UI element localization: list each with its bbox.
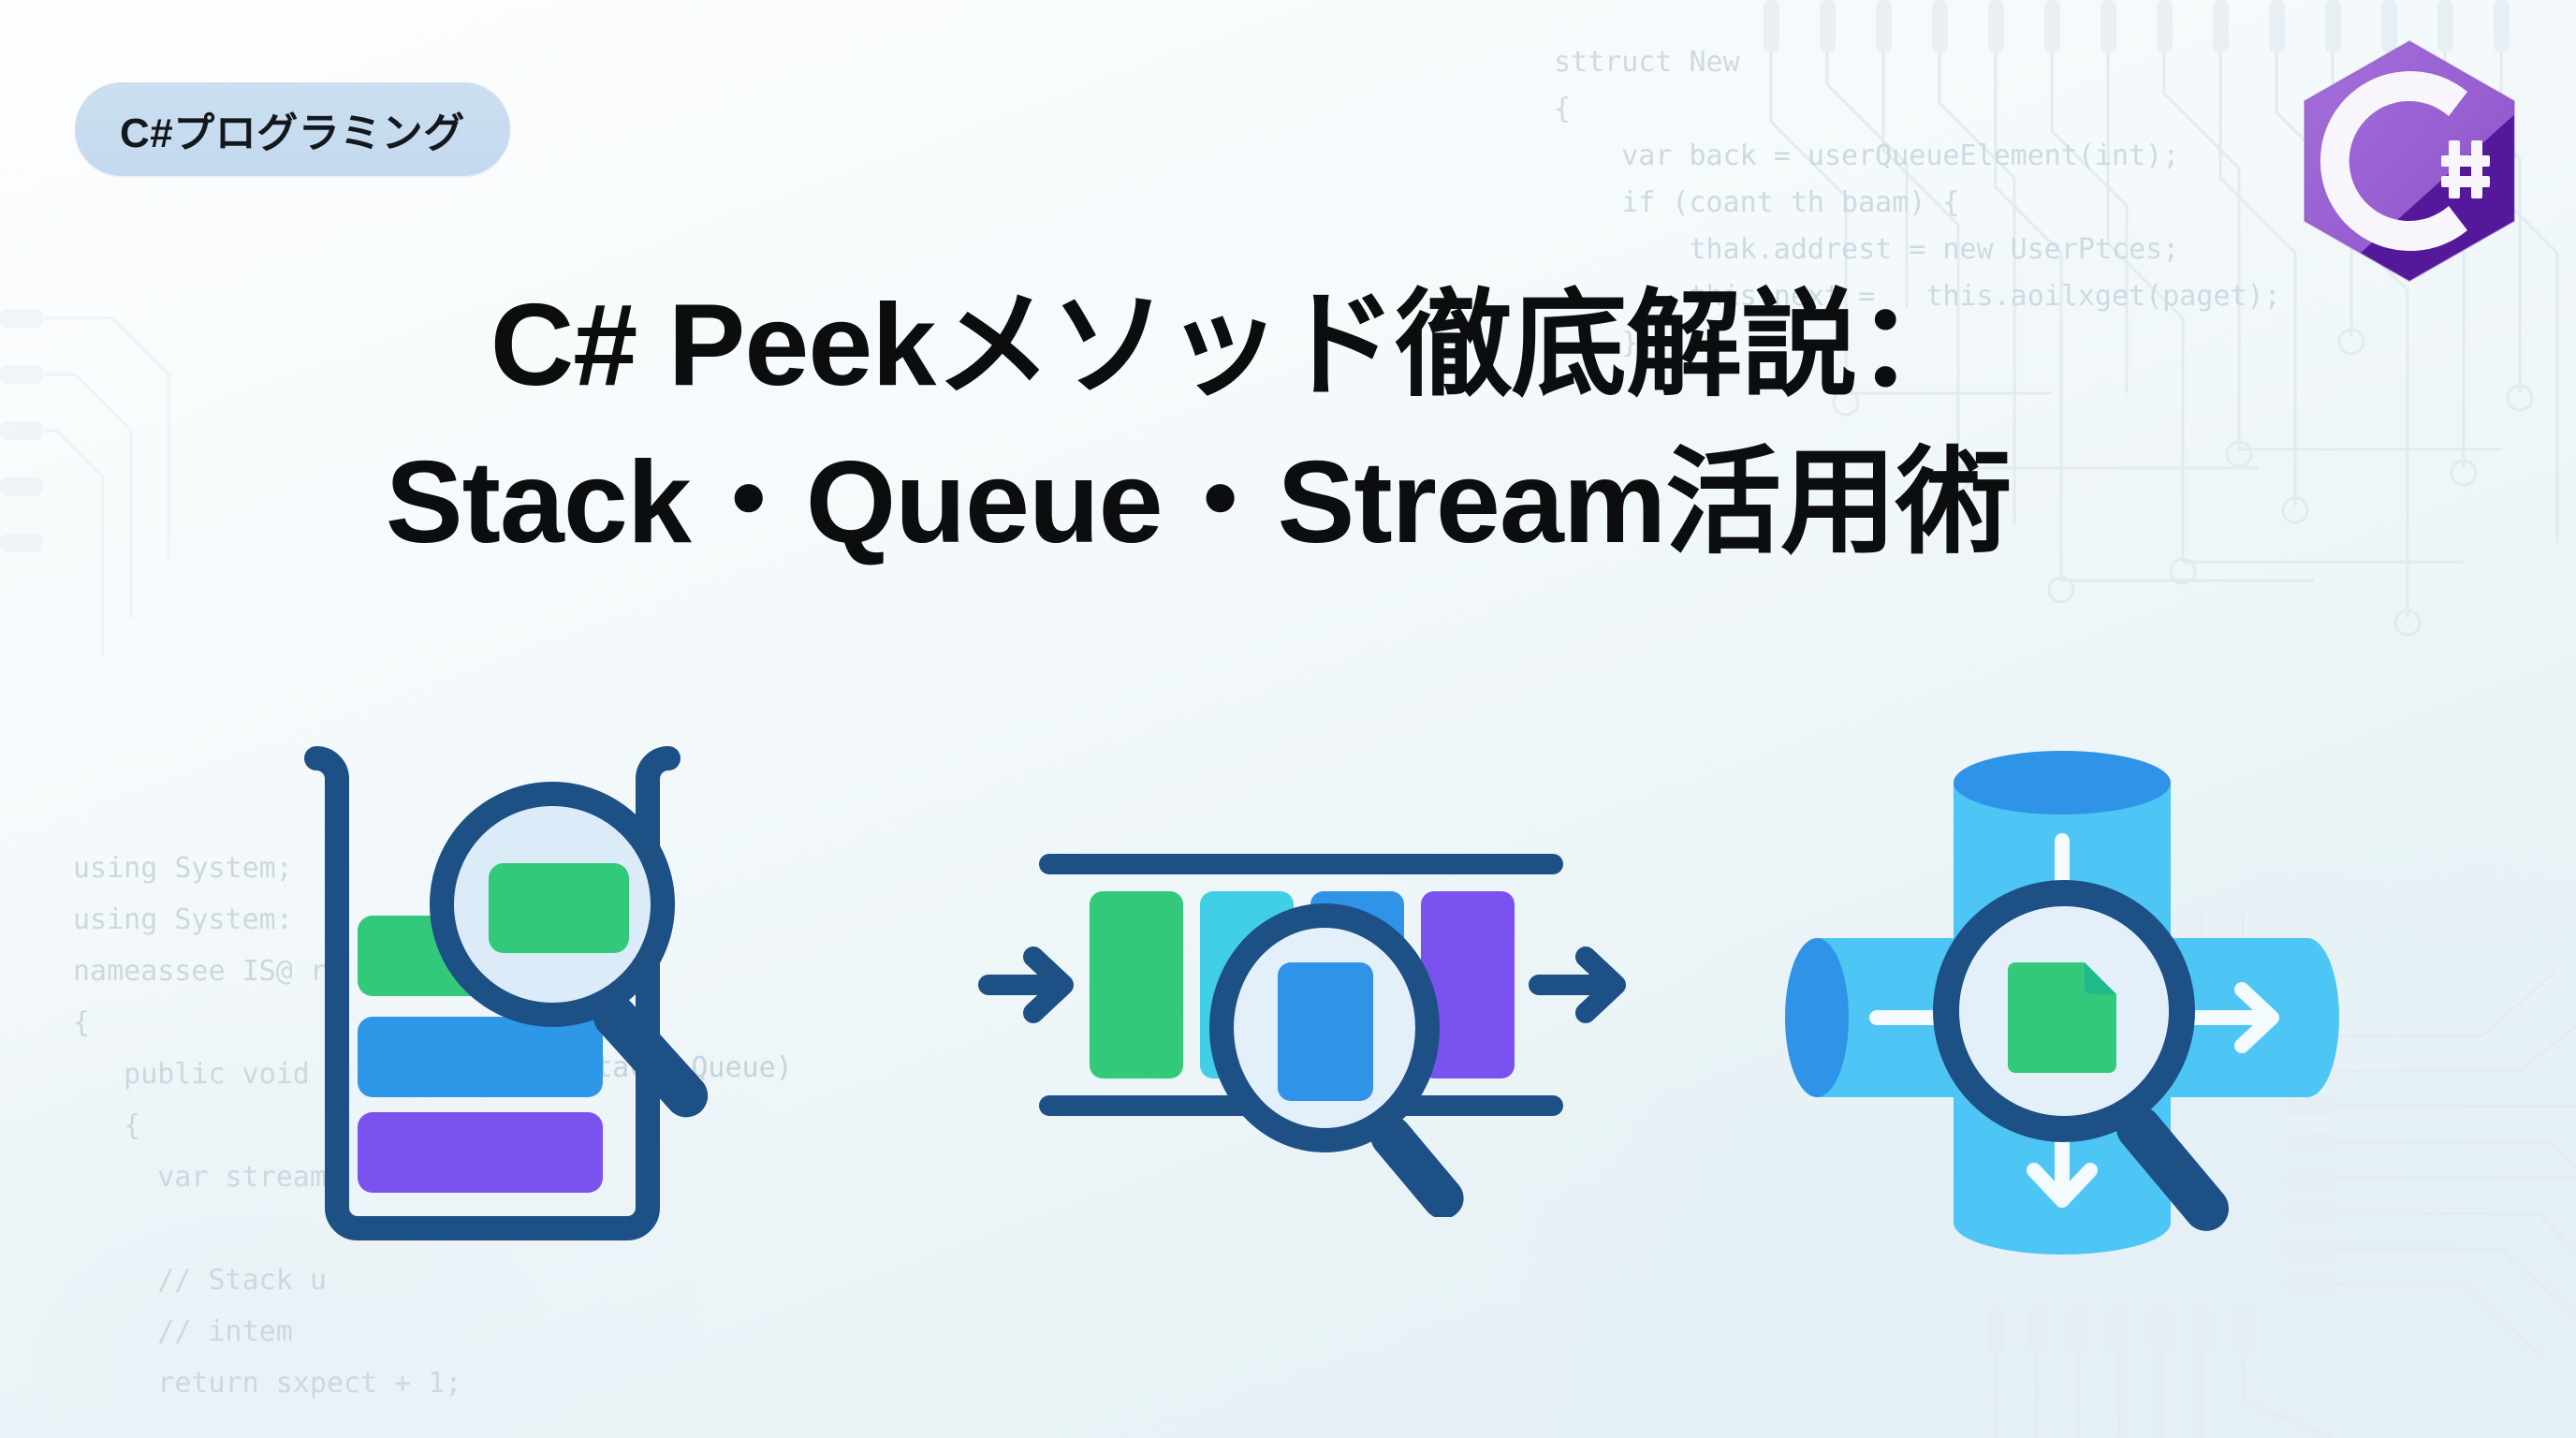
queue-arrow-in — [988, 957, 1063, 1013]
title-line-2: Stack・Queue・Stream活用術 — [0, 424, 2396, 581]
pipe-cap-left — [1785, 938, 1849, 1097]
pipe-cap-top — [1954, 751, 2171, 814]
poster-canvas: sttruct New { var back = userQueueElemen… — [0, 0, 2576, 1438]
stack-block-middle — [358, 1017, 603, 1097]
csharp-logo-icon — [2291, 36, 2527, 286]
category-badge-label: C#プログラミング — [120, 99, 465, 159]
stream-peek-illustration — [1783, 730, 2345, 1255]
stack-block-bottom — [358, 1112, 603, 1193]
queue-peek-illustration — [973, 824, 1629, 1217]
queue-rail-top — [1039, 854, 1563, 874]
queue-arrow-out — [1539, 957, 1616, 1013]
title-line-1: C# Peekメソッド徹底解説： — [0, 267, 2396, 424]
category-badge: C#プログラミング — [75, 82, 510, 176]
page-title: C# Peekメソッド徹底解説： Stack・Queue・Stream活用術 — [0, 267, 2396, 581]
stack-peek-illustration — [271, 721, 814, 1283]
queue-block-1 — [1090, 891, 1183, 1078]
